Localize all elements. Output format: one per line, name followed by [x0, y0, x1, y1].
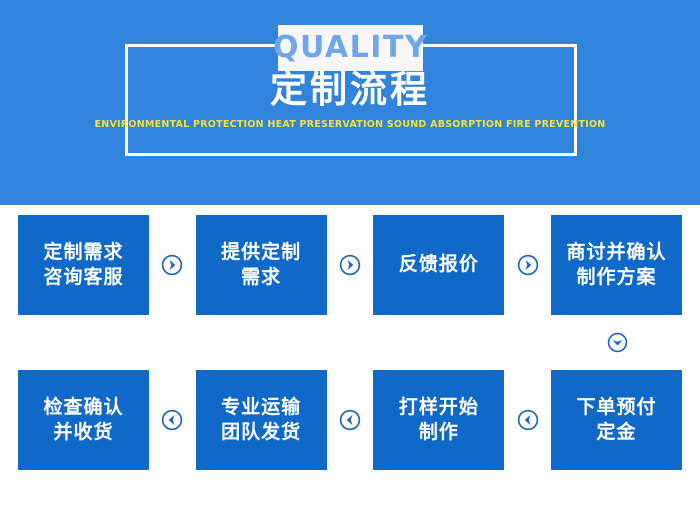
page-title: 定制流程: [0, 70, 700, 111]
row1-right-spacer: [682, 215, 700, 315]
flow-step-5-line2: 定金: [597, 420, 637, 445]
flow-step-3[interactable]: 反馈报价: [373, 215, 504, 315]
flow-step-8-line2: 并收货: [53, 420, 113, 445]
flow-step-6-line2: 制作: [419, 420, 459, 445]
flow-step-2[interactable]: 提供定制 需求: [196, 215, 327, 315]
flow-arrow-1-2: [149, 215, 196, 315]
chevron-left-circle-icon: [161, 409, 183, 431]
chevron-left-circle-icon: [339, 409, 361, 431]
flow-arrow-7-8: [149, 370, 196, 470]
flow-step-1-line2: 咨询客服: [43, 265, 123, 290]
page-subtitle: ENVIRONMENTAL PROTECTION HEAT PRESERVATI…: [0, 119, 700, 130]
flow-step-6-line1: 打样开始: [399, 395, 479, 420]
flow-row-2: 检查确认 并收货 专业运输 团队发货 打样开始 制作: [0, 370, 700, 470]
chevron-down-circle-icon: [607, 332, 628, 353]
flow-step-7[interactable]: 专业运输 团队发货: [196, 370, 327, 470]
flow-step-2-line2: 需求: [241, 265, 281, 290]
flow-row-1: 定制需求 咨询客服 提供定制 需求 反馈报价: [0, 215, 700, 315]
flow-step-4-line1: 商讨并确认: [567, 240, 667, 265]
flow-step-4-line2: 制作方案: [577, 265, 657, 290]
flow-step-1[interactable]: 定制需求 咨询客服: [18, 215, 149, 315]
header-banner: QUALITY 定制流程 ENVIRONMENTAL PROTECTION HE…: [0, 0, 700, 205]
flow-step-1-line1: 定制需求: [43, 240, 123, 265]
flow-step-8-line1: 检查确认: [43, 395, 123, 420]
flow-step-2-line1: 提供定制: [221, 240, 301, 265]
row2-left-spacer: [0, 370, 18, 470]
row2-right-spacer: [682, 370, 700, 470]
flow-arrow-6-7: [327, 370, 374, 470]
process-flow-diagram: 定制需求 咨询客服 提供定制 需求 反馈报价: [0, 205, 700, 515]
flow-step-7-line2: 团队发货: [221, 420, 301, 445]
chevron-right-circle-icon: [161, 254, 183, 276]
flow-step-3-line1: 反馈报价: [399, 252, 479, 277]
quality-badge-label: QUALITY: [273, 33, 428, 63]
flow-step-7-line1: 专业运输: [221, 395, 301, 420]
flow-arrow-3-4: [504, 215, 551, 315]
flow-step-5-line1: 下单预付: [577, 395, 657, 420]
chevron-right-circle-icon: [339, 254, 361, 276]
chevron-right-circle-icon: [517, 254, 539, 276]
flow-step-4[interactable]: 商讨并确认 制作方案: [551, 215, 682, 315]
flow-step-5[interactable]: 下单预付 定金: [551, 370, 682, 470]
quality-badge: QUALITY: [278, 25, 423, 71]
flow-arrow-2-3: [327, 215, 374, 315]
flow-step-8[interactable]: 检查确认 并收货: [18, 370, 149, 470]
flow-step-6[interactable]: 打样开始 制作: [373, 370, 504, 470]
chevron-left-circle-icon: [517, 409, 539, 431]
flow-arrow-5-6: [504, 370, 551, 470]
row1-left-spacer: [0, 215, 18, 315]
flow-arrow-4-5: [597, 322, 637, 362]
